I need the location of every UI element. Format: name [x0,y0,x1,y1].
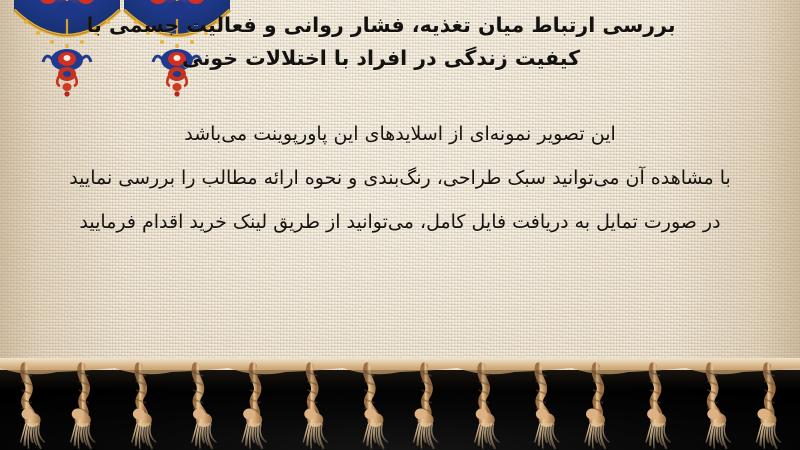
body-line-3: در صورت تمایل به دریافت فایل کامل، می‌تو… [0,200,800,244]
body-line-2: با مشاهده آن می‌توانید سبک طراحی، رنگ‌بن… [0,156,800,200]
carpet-fringe-tassels [0,358,800,450]
title-line-1: بررسی ارتباط میان تغذیه، فشار روانی و فع… [86,13,675,37]
fringe-sheen [0,370,800,450]
body-line-1: این تصویر نمونه‌ای از اسلایدهای این پاور… [0,112,800,156]
slide-body-text: این تصویر نمونه‌ای از اسلایدهای این پاور… [0,112,800,244]
title-line-2: کیفیت زندگی در افراد با اختلالات خونی [182,46,580,70]
page-title: بررسی ارتباط میان تغذیه، فشار روانی و فع… [6,9,796,75]
presentation-slide: بررسی ارتباط میان تغذیه، فشار روانی و فع… [0,0,800,450]
